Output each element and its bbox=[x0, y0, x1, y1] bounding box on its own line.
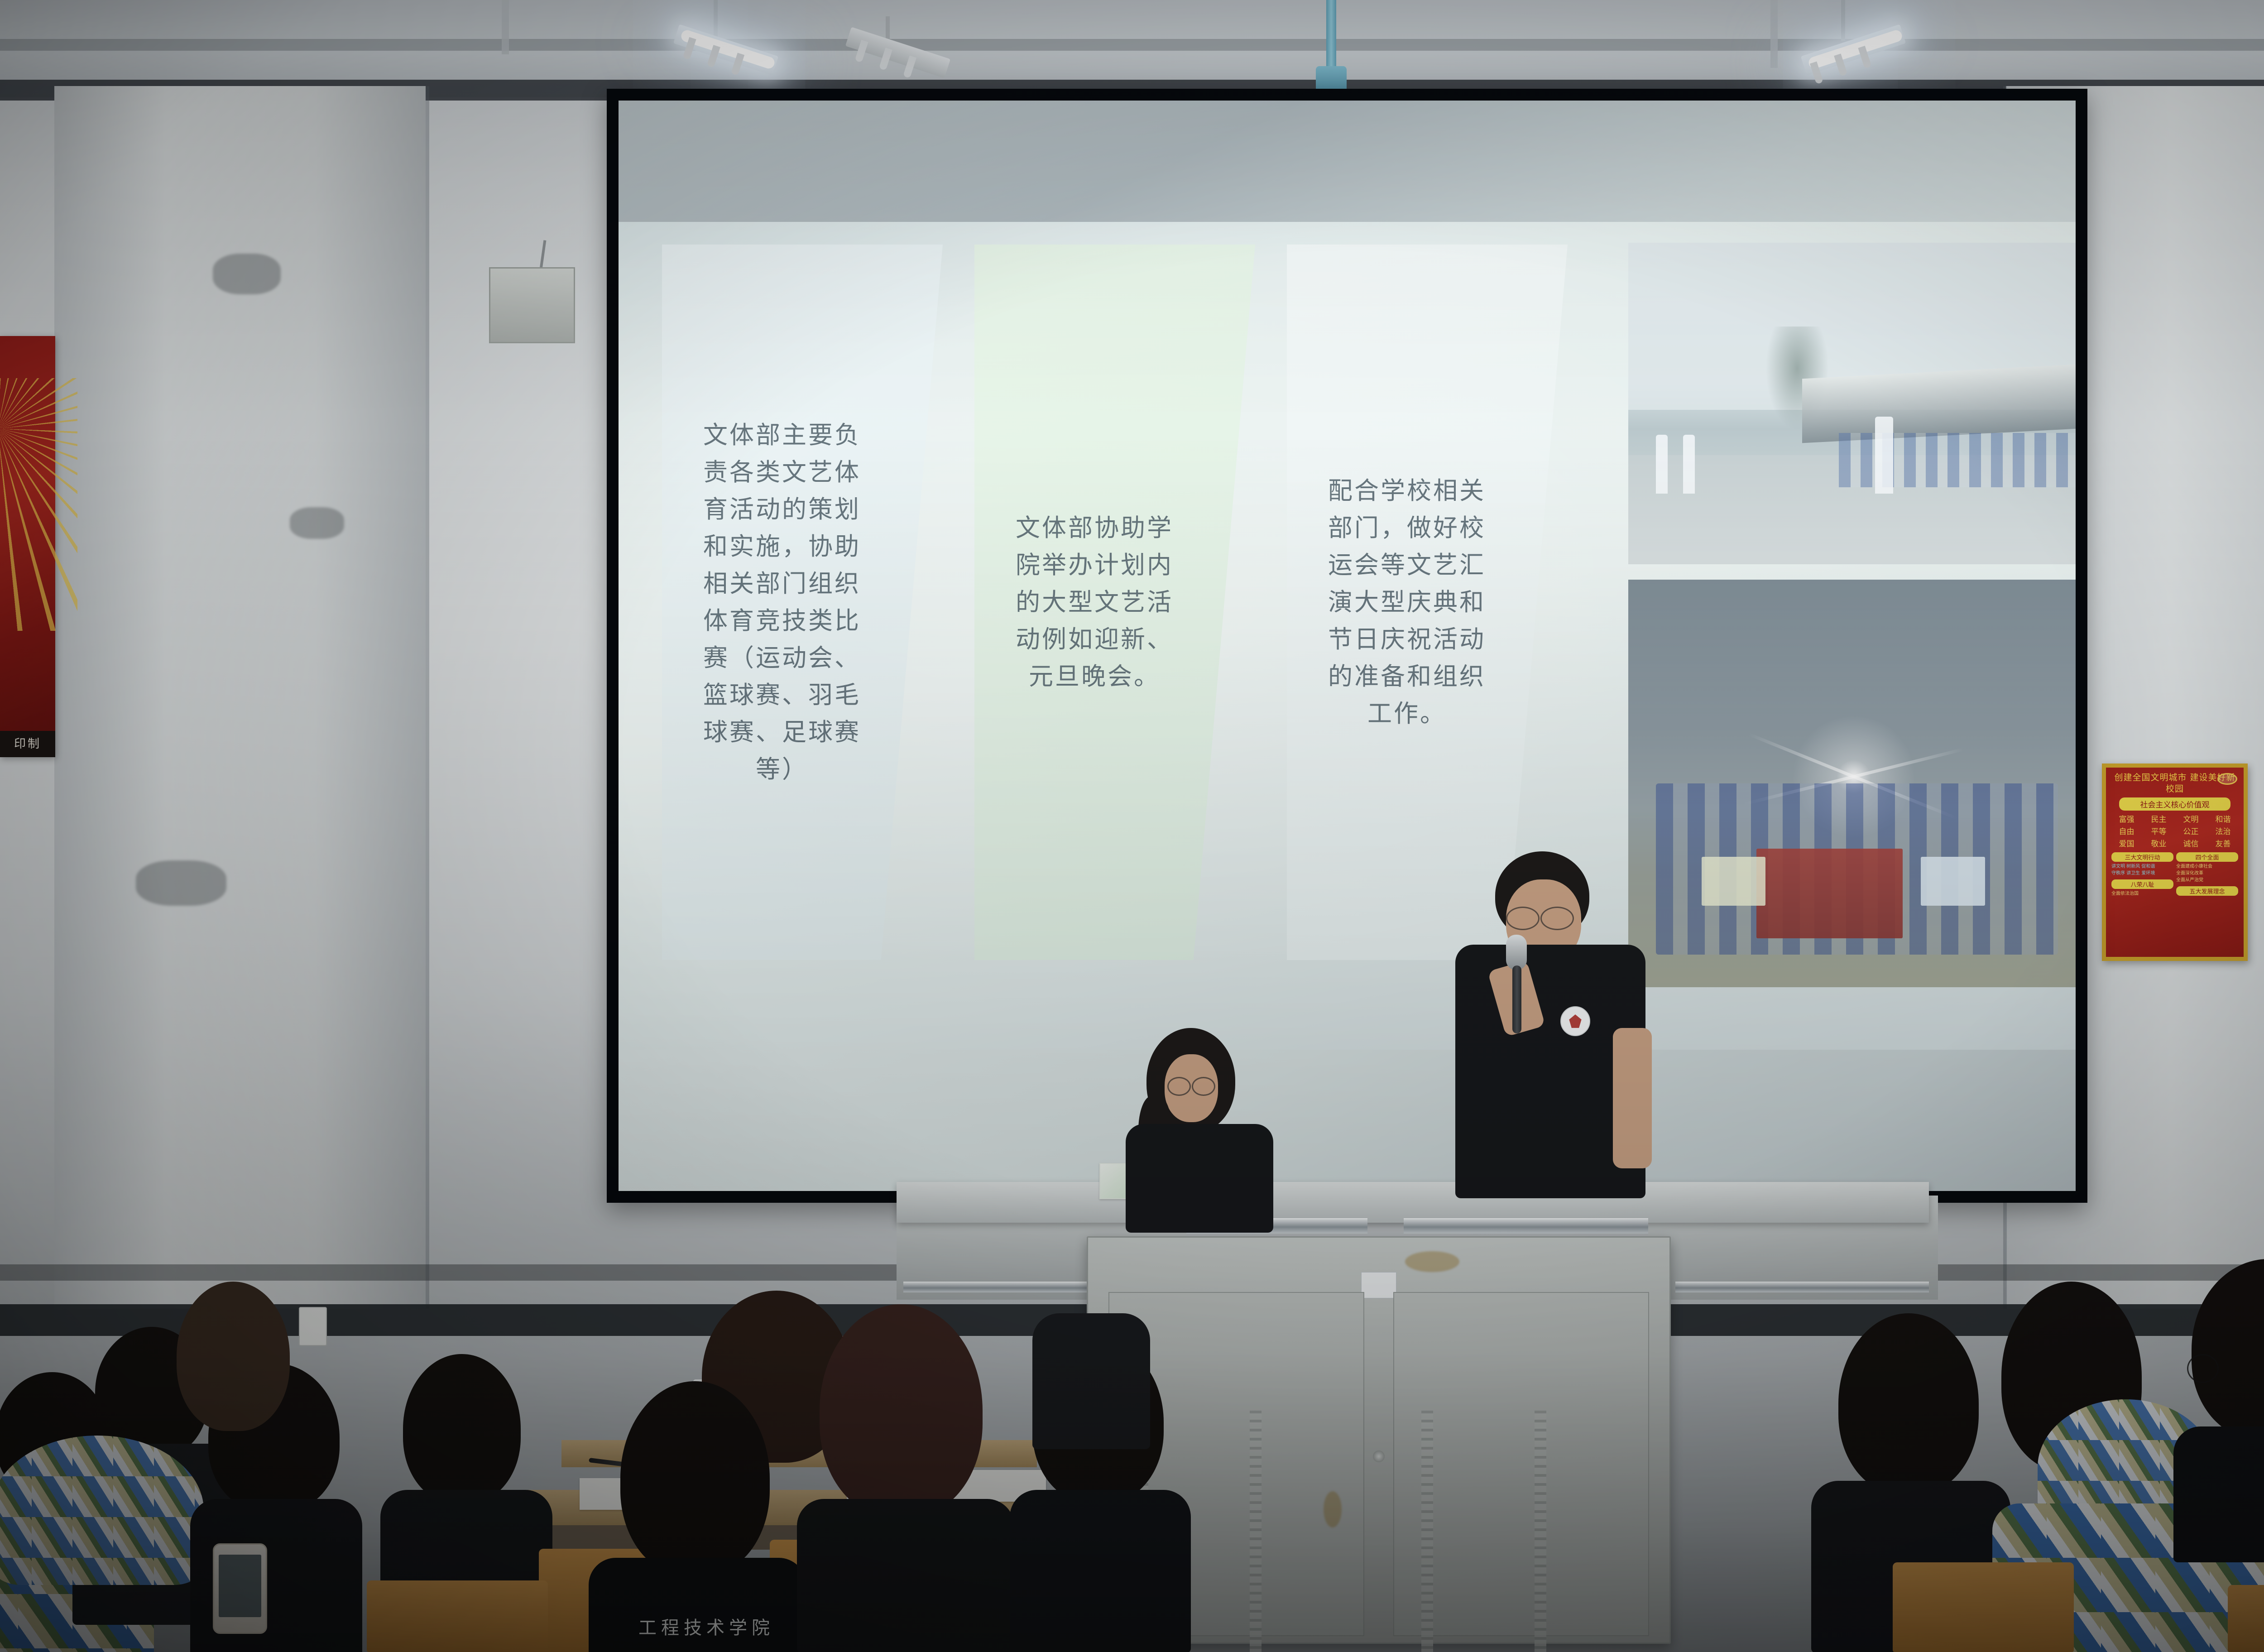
slide-panel-3-text: 配合学校相关部门，做好校运会等文艺汇演大型庆典和节日庆祝活动的准备和组织工作。 bbox=[1316, 472, 1497, 733]
audience-shirt bbox=[797, 1499, 1014, 1652]
photo-red-banner bbox=[1756, 849, 1903, 938]
audience-member bbox=[2178, 1259, 2264, 1540]
poster-chip-label: 社会主义核心价值观 bbox=[2119, 797, 2230, 811]
photo-student-crowd bbox=[1839, 433, 2076, 487]
audience-member: 工程技术学院 bbox=[571, 1381, 806, 1652]
audience-shirt bbox=[1010, 1490, 1191, 1652]
projection-screen: 文体部主要是干什么 文体部主要负责各类文艺体育活动的策划和实施，协助相关部门组织… bbox=[607, 89, 2087, 1203]
presenter-speaking-arm-right bbox=[1613, 1028, 1652, 1168]
ceiling-beam-upper bbox=[0, 39, 2264, 51]
core-values-poster: 创建全国文明城市 建设美好新校园 社会主义核心价值观 富强 民主 文明 和谐 自… bbox=[2102, 764, 2248, 961]
microphone-cable bbox=[1512, 965, 1521, 1033]
chair-back bbox=[367, 1580, 548, 1652]
poster-column-right: 四个全面 全面建成小康社会 全面深化改革 全面从严治党 五大发展理念 bbox=[2176, 852, 2238, 897]
poster-subhead: 五大发展理念 bbox=[2176, 886, 2238, 896]
front-desk-rail-right bbox=[1675, 1282, 1929, 1292]
presenter-seated bbox=[1123, 1028, 1277, 1218]
console-vent bbox=[1535, 1411, 1546, 1652]
poster-line: 全面深化改革 bbox=[2176, 870, 2238, 877]
console-asset-label bbox=[1361, 1272, 1396, 1298]
poster-value: 民主 bbox=[2144, 813, 2174, 824]
poster-subhead: 八荣八耻 bbox=[2111, 879, 2173, 889]
projection-screen-surface: 文体部主要是干什么 文体部主要负责各类文艺体育活动的策划和实施，协助相关部门组织… bbox=[619, 101, 2076, 1191]
slide-photo-group bbox=[1628, 580, 2076, 987]
console-stain bbox=[1324, 1491, 1342, 1527]
poster-seal-icon bbox=[2217, 773, 2237, 785]
audience-head bbox=[1838, 1313, 1979, 1494]
banner-footer-text: 印制 bbox=[0, 731, 55, 757]
ceiling-pipe-left bbox=[502, 0, 509, 54]
presenter-speaking-badge bbox=[1560, 1006, 1590, 1036]
photo-person bbox=[1656, 435, 1668, 494]
photo-sign-right bbox=[1921, 857, 1985, 906]
slide-panel-group: 文体部主要负责各类文艺体育活动的策划和实施，协助相关部门组织体育竞技类比赛（运动… bbox=[662, 245, 1540, 987]
audience-member bbox=[1032, 1259, 1150, 1449]
slide-panel-1-text: 文体部主要负责各类文艺体育活动的策划和实施，协助相关部门组织体育竞技类比赛（运动… bbox=[691, 417, 873, 788]
wall-stain-1 bbox=[213, 254, 281, 294]
wall-seam-left bbox=[426, 86, 429, 1309]
front-desk-top bbox=[897, 1182, 1929, 1223]
audience-shirt bbox=[1032, 1313, 1150, 1449]
ceiling-pipe-right bbox=[1770, 0, 1778, 68]
presentation-slide: 文体部主要是干什么 文体部主要负责各类文艺体育活动的策划和实施，协助相关部门组织… bbox=[619, 222, 2076, 1050]
poster-value: 富强 bbox=[2111, 813, 2142, 824]
poster-value: 公正 bbox=[2176, 825, 2206, 836]
slide-panel-2: 文体部协助学院举办计划内的大型文艺活动例如迎新、元旦晚会。 bbox=[974, 245, 1255, 960]
presenter-speaking-glasses-right bbox=[1540, 907, 1574, 930]
presenter-seated-glasses-left bbox=[1167, 1077, 1191, 1096]
power-outlet-left[interactable] bbox=[299, 1307, 327, 1346]
poster-line: 全面依法治国 bbox=[2111, 890, 2173, 897]
wall-stain-3 bbox=[136, 860, 226, 906]
poster-subhead: 三大文明行动 bbox=[2111, 852, 2173, 862]
light-rod-right bbox=[1841, 0, 1845, 41]
poster-value: 平等 bbox=[2144, 825, 2174, 836]
poster-value: 文明 bbox=[2176, 813, 2206, 824]
poster-value: 自由 bbox=[2111, 825, 2142, 836]
audience-shirt-text: 工程技术学院 bbox=[620, 1613, 792, 1639]
slide-panel-1: 文体部主要负责各类文艺体育活动的策划和实施，协助相关部门组织体育竞技类比赛（运动… bbox=[662, 245, 943, 960]
smartphone[interactable] bbox=[213, 1543, 267, 1634]
poster-subhead: 四个全面 bbox=[2176, 852, 2238, 862]
wall-banner-left: 印制 bbox=[0, 336, 55, 757]
front-desk-rail-center bbox=[1404, 1218, 1648, 1234]
audience-member bbox=[788, 1304, 1023, 1652]
audience-head bbox=[2192, 1259, 2264, 1440]
slide-panel-2-text: 文体部协助学院举办计划内的大型文艺活动例如迎新、元旦晚会。 bbox=[1004, 509, 1185, 695]
poster-line: 全面建成小康社会 bbox=[2176, 863, 2238, 870]
fan-rod bbox=[1326, 0, 1336, 68]
photo-person bbox=[1683, 435, 1695, 494]
banner-firework-pattern bbox=[0, 378, 77, 631]
console-door-right[interactable] bbox=[1393, 1292, 1649, 1636]
audience-member bbox=[149, 1282, 299, 1508]
presenter-seated-glasses-right bbox=[1192, 1077, 1215, 1096]
poster-column-left: 三大文明行动 讲文明 树新风 促和谐 守秩序 讲卫生 爱环境 八荣八耻 全面依法… bbox=[2111, 852, 2173, 897]
photo-sign-left bbox=[1702, 857, 1765, 906]
presenter-speaking-glasses-left bbox=[1506, 907, 1540, 930]
poster-value: 诚信 bbox=[2176, 837, 2206, 849]
console-vent bbox=[1250, 1411, 1262, 1652]
audience-head bbox=[620, 1381, 770, 1576]
presenter-speaking bbox=[1440, 851, 1657, 1214]
smartphone-screen bbox=[219, 1555, 261, 1617]
audience-glasses bbox=[2187, 1354, 2219, 1383]
chair-back bbox=[1893, 1562, 2074, 1652]
poster-value: 法治 bbox=[2208, 825, 2238, 836]
console-lock-icon[interactable] bbox=[1373, 1450, 1385, 1462]
audience-shirt bbox=[2173, 1426, 2264, 1562]
wall-stain-2 bbox=[290, 507, 344, 539]
audience-head bbox=[820, 1304, 983, 1517]
console-vent bbox=[1421, 1411, 1433, 1652]
audience-head bbox=[177, 1282, 290, 1431]
poster-value: 友善 bbox=[2208, 837, 2238, 849]
wall-speaker-box bbox=[489, 267, 575, 343]
presenter-seated-torso bbox=[1126, 1124, 1273, 1233]
poster-line: 讲文明 树新风 促和谐 bbox=[2111, 863, 2173, 870]
classroom-scene: 印制 创建全国文明城市 建设美好新校园 社会主义核心价值观 富强 民主 文明 和… bbox=[0, 0, 2264, 1652]
poster-lower-columns: 三大文明行动 讲文明 树新风 促和谐 守秩序 讲卫生 爱环境 八荣八耻 全面依法… bbox=[2111, 852, 2238, 897]
photo-person bbox=[1875, 417, 1893, 494]
audience-head bbox=[403, 1354, 521, 1503]
slide-photo-campus bbox=[1628, 243, 2076, 564]
poster-line: 全面从严治党 bbox=[2176, 877, 2238, 884]
console-stain bbox=[1405, 1251, 1459, 1272]
poster-value: 敬业 bbox=[2144, 837, 2174, 849]
light-rod-left bbox=[714, 0, 718, 41]
poster-value: 爱国 bbox=[2111, 837, 2142, 849]
chair-back bbox=[2228, 1585, 2264, 1652]
microphone-head[interactable] bbox=[1506, 935, 1527, 970]
poster-line: 守秩序 讲卫生 爱环境 bbox=[2111, 870, 2173, 877]
poster-value: 和谐 bbox=[2208, 813, 2238, 824]
poster-values-grid: 富强 民主 文明 和谐 自由 平等 公正 法治 爱国 敬业 诚信 友善 bbox=[2111, 813, 2238, 849]
